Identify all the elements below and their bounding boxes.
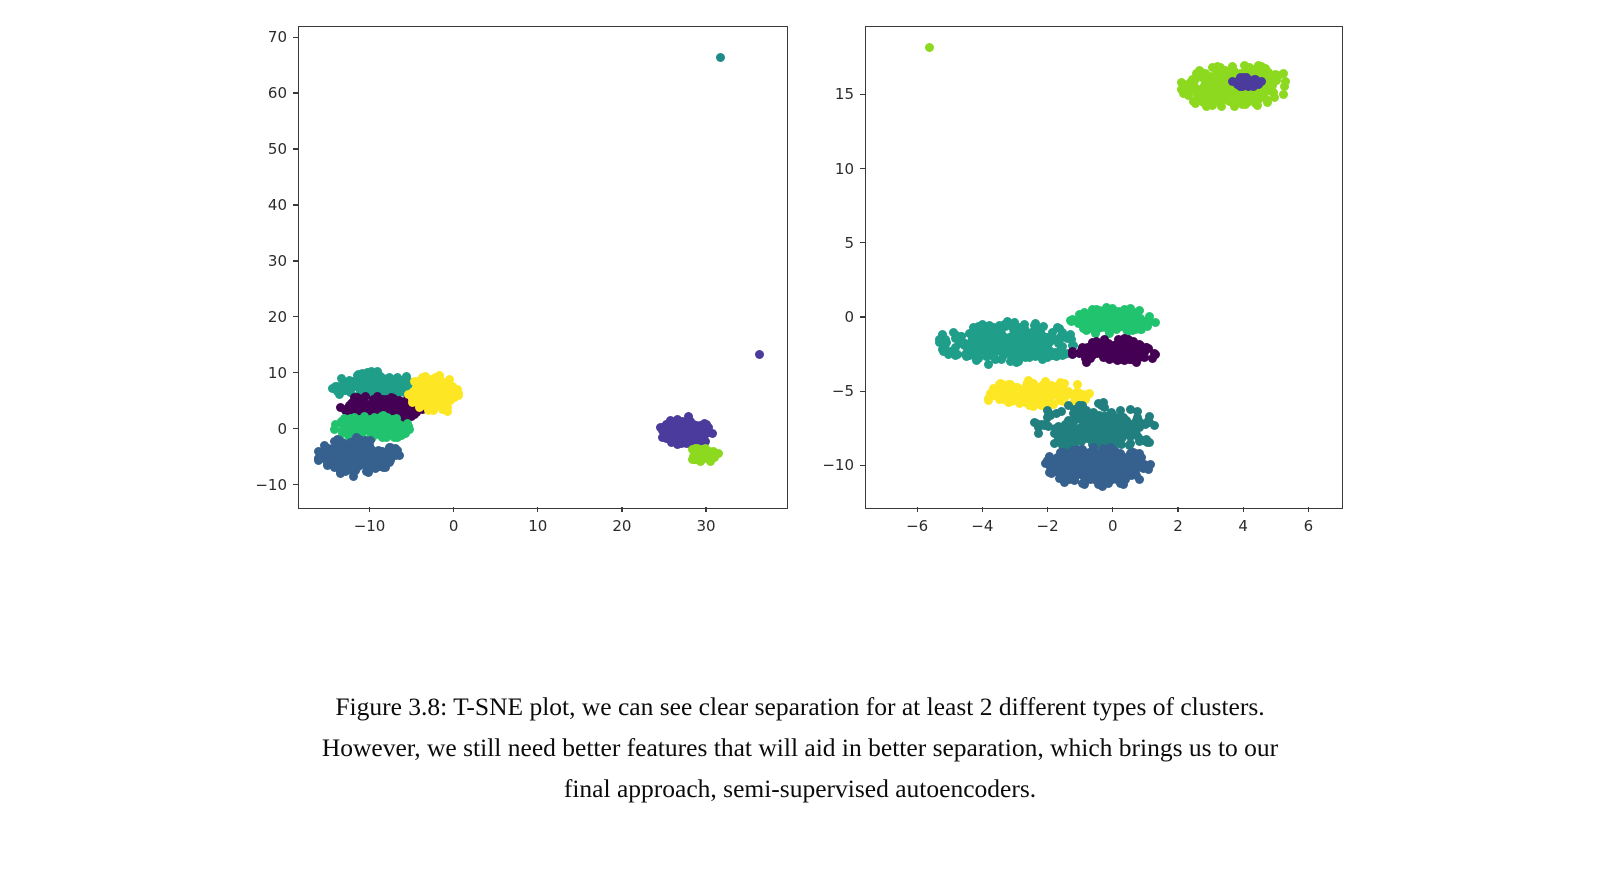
scatter-point-dark-purple [406, 396, 415, 405]
scatter-point-green [1100, 317, 1109, 326]
y-tick-label: 60 [242, 84, 287, 102]
scatter-point-dark-teal [1117, 414, 1126, 423]
scatter-point-green [1127, 315, 1136, 324]
scatter-point-teal [991, 355, 1000, 364]
scatter-point-yellow [1014, 392, 1023, 401]
scatter-point-lime-top [1219, 81, 1228, 90]
scatter-point-purple [676, 423, 685, 432]
scatter-point-yellow [432, 397, 441, 406]
scatter-point-teal [974, 354, 983, 363]
scatter-point-dark-teal [1081, 428, 1090, 437]
scatter-point-dark-purple [368, 400, 377, 409]
y-tick-mark [293, 372, 298, 373]
scatter-point-lime-top [1235, 78, 1244, 87]
scatter-point-purple [674, 423, 683, 432]
scatter-point-yellow [1014, 385, 1023, 394]
scatter-point-green [366, 419, 375, 428]
scatter-point-lime-top [1267, 72, 1276, 81]
scatter-point-lime-top [1234, 89, 1243, 98]
scatter-point-steel-blue [1108, 472, 1117, 481]
scatter-point-yellow [1037, 401, 1046, 410]
scatter-point-dark-purple [1109, 350, 1118, 359]
scatter-point-dark-purple [336, 403, 345, 412]
scatter-point-purple-top [1249, 82, 1258, 91]
scatter-point-steel-blue [342, 444, 351, 453]
scatter-point-steel-blue [1127, 470, 1136, 479]
scatter-point-purple [680, 429, 689, 438]
scatter-point-steel-blue [353, 441, 362, 450]
scatter-point-teal [996, 334, 1005, 343]
scatter-point-steel-blue [337, 456, 346, 465]
scatter-point-teal [374, 383, 383, 392]
scatter-point-teal [975, 333, 984, 342]
scatter-point-green [1124, 326, 1133, 335]
scatter-point-steel-blue [360, 452, 369, 461]
scatter-point-lime [703, 448, 712, 457]
scatter-point-yellow [426, 387, 435, 396]
scatter-point-purple [695, 427, 704, 436]
scatter-point-steel-blue [316, 452, 325, 461]
scatter-point-teal [984, 333, 993, 342]
scatter-point-yellow [454, 391, 463, 400]
scatter-point-lime-top [1211, 91, 1220, 100]
scatter-point-lime-top [1195, 66, 1204, 75]
scatter-point-yellow [1034, 392, 1043, 401]
scatter-point-lime-top [1238, 87, 1247, 96]
scatter-point-dark-purple [1102, 347, 1111, 356]
scatter-point-steel-blue [1129, 456, 1138, 465]
scatter-point-teal [999, 341, 1008, 350]
scatter-point-green [1108, 310, 1117, 319]
scatter-point-teal [1026, 341, 1035, 350]
scatter-point-steel-blue [1075, 452, 1084, 461]
scatter-point-dark-purple [1125, 340, 1134, 349]
scatter-point-dark-purple [398, 403, 407, 412]
scatter-point-teal [1002, 338, 1011, 347]
scatter-point-yellow [1040, 393, 1049, 402]
scatter-point-yellow [448, 382, 457, 391]
scatter-point-purple [680, 428, 689, 437]
scatter-point-purple-top [1239, 76, 1248, 85]
scatter-point-yellow [1030, 390, 1039, 399]
scatter-point-lime-top [1218, 78, 1227, 87]
scatter-point-green [345, 433, 354, 442]
scatter-point-steel-blue [1099, 450, 1108, 459]
scatter-point-purple [693, 428, 702, 437]
scatter-point-dark-purple [1122, 354, 1131, 363]
scatter-point-yellow [434, 391, 443, 400]
scatter-point-teal [379, 376, 388, 385]
scatter-point-dark-purple [371, 401, 380, 410]
scatter-point-yellow [1029, 379, 1038, 388]
scatter-point-lime-top [1241, 93, 1250, 102]
scatter-point-teal [1009, 325, 1018, 334]
scatter-point-steel-blue [336, 469, 345, 478]
scatter-point-teal [1043, 341, 1052, 350]
scatter-point-dark-teal [1043, 413, 1052, 422]
scatter-point-dark-teal [1061, 420, 1070, 429]
scatter-point-green [1101, 307, 1110, 316]
scatter-point-dark-purple [1114, 345, 1123, 354]
scatter-point-dark-teal [1120, 430, 1129, 439]
scatter-point-dark-purple [381, 406, 390, 415]
scatter-point-dark-purple [1099, 344, 1108, 353]
scatter-point-steel-blue [1072, 461, 1081, 470]
scatter-point-yellow [1016, 392, 1025, 401]
scatter-point-dark-teal [1068, 430, 1077, 439]
scatter-point-lime-top [1258, 88, 1267, 97]
scatter-point-lime-top [1236, 96, 1245, 105]
scatter-point-teal [354, 370, 363, 379]
scatter-point-dark-teal [1102, 412, 1111, 421]
scatter-point-steel-blue [347, 451, 356, 460]
scatter-point-yellow [426, 391, 435, 400]
scatter-point-dark-teal [1087, 426, 1096, 435]
scatter-point-teal [979, 330, 988, 339]
scatter-point-teal [1005, 333, 1014, 342]
scatter-point-steel-blue [1077, 452, 1086, 461]
scatter-point-purple [678, 424, 687, 433]
scatter-point-purple [686, 425, 695, 434]
scatter-point-steel-blue [1098, 468, 1107, 477]
scatter-point-lime-top [1223, 93, 1232, 102]
scatter-point-dark-purple [1116, 339, 1125, 348]
scatter-point-teal [359, 392, 368, 401]
scatter-point-lime-top [1251, 82, 1260, 91]
scatter-point-teal [1031, 342, 1040, 351]
scatter-point-steel-blue [1122, 453, 1131, 462]
scatter-point-steel-blue [1087, 463, 1096, 472]
scatter-point-steel-blue [1111, 447, 1120, 456]
scatter-point-steel-blue [1080, 473, 1089, 482]
scatter-point-green [378, 433, 387, 442]
scatter-point-teal [980, 344, 989, 353]
scatter-point-purple [685, 439, 694, 448]
scatter-point-dark-purple [1135, 347, 1144, 356]
scatter-point-dark-teal [1034, 429, 1043, 438]
scatter-point-green [357, 417, 366, 426]
scatter-point-teal [985, 321, 994, 330]
scatter-point-lime-top [1240, 90, 1249, 99]
scatter-point-yellow [415, 387, 424, 396]
scatter-point-purple [670, 424, 679, 433]
scatter-point-green [349, 417, 358, 426]
scatter-point-teal [386, 379, 395, 388]
scatter-point-teal [1039, 343, 1048, 352]
scatter-point-steel-blue [343, 450, 352, 459]
scatter-point-steel-blue [391, 449, 400, 458]
scatter-point-teal [362, 373, 371, 382]
scatter-point-dark-purple [357, 409, 366, 418]
scatter-point-purple [694, 425, 703, 434]
scatter-point-steel-blue [1108, 457, 1117, 466]
scatter-point-lime-top [1247, 80, 1256, 89]
scatter-point-steel-blue [1095, 459, 1104, 468]
scatter-point-green [388, 417, 397, 426]
scatter-point-yellow [450, 393, 459, 402]
scatter-point-steel-blue [1053, 457, 1062, 466]
scatter-point-lime-top [1238, 80, 1247, 89]
scatter-point-steel-blue [1052, 455, 1061, 464]
scatter-point-lime-top [1245, 73, 1254, 82]
scatter-point-teal [344, 383, 353, 392]
scatter-point-yellow [448, 386, 457, 395]
scatter-point-green [1101, 323, 1110, 332]
scatter-point-yellow [1041, 389, 1050, 398]
scatter-point-dark-purple [1127, 346, 1136, 355]
scatter-point-steel-blue [386, 443, 395, 452]
scatter-point-dark-teal [1095, 411, 1104, 420]
scatter-point-dark-teal [1095, 445, 1104, 454]
scatter-point-green [370, 421, 379, 430]
scatter-point-lime-top [1261, 81, 1270, 90]
scatter-point-yellow [1037, 394, 1046, 403]
scatter-point-steel-blue [1082, 471, 1091, 480]
scatter-point-dark-teal [1144, 416, 1153, 425]
scatter-point-lime-top [1243, 98, 1252, 107]
scatter-point-steel-blue [1105, 460, 1114, 469]
scatter-point-dark-purple [1106, 348, 1115, 357]
scatter-point-dark-purple [1068, 349, 1077, 358]
scatter-point-teal [357, 386, 366, 395]
scatter-point-steel-blue [336, 452, 345, 461]
scatter-point-dark-teal [1079, 417, 1088, 426]
scatter-point-green [1067, 317, 1076, 326]
scatter-point-purple [700, 436, 709, 445]
x-tick-mark [1112, 507, 1113, 512]
scatter-point-teal [365, 389, 374, 398]
scatter-point-teal [391, 384, 400, 393]
scatter-point-yellow [1038, 381, 1047, 390]
scatter-point-green [1092, 326, 1101, 335]
scatter-point-purple [702, 420, 711, 429]
scatter-point-dark-teal [1097, 401, 1106, 410]
scatter-point-yellow [1031, 387, 1040, 396]
scatter-point-lime-top [1206, 91, 1215, 100]
scatter-point-dark-purple [382, 406, 391, 415]
scatter-point-teal [951, 351, 960, 360]
scatter-point-lime-top [1264, 71, 1273, 80]
scatter-point-yellow [446, 390, 455, 399]
scatter-point-steel-blue [1110, 468, 1119, 477]
scatter-point-green [388, 415, 397, 424]
scatter-point-teal [1011, 326, 1020, 335]
scatter-point-dark-purple [412, 408, 421, 417]
scatter-point-steel-blue [1124, 465, 1133, 474]
scatter-point-steel-blue [1116, 475, 1125, 484]
scatter-point-purple [685, 431, 694, 440]
scatter-point-green [405, 425, 414, 434]
scatter-point-dark-teal [1116, 412, 1125, 421]
scatter-point-teal [328, 384, 337, 393]
scatter-point-yellow [421, 386, 430, 395]
scatter-point-green [1103, 314, 1112, 323]
scatter-point-dark-purple [356, 400, 365, 409]
scatter-point-steel-blue [362, 440, 371, 449]
y-tick-mark [293, 428, 298, 429]
scatter-point-teal [991, 346, 1000, 355]
scatter-point-lime-top [1211, 88, 1220, 97]
scatter-point-dark-teal [1115, 425, 1124, 434]
scatter-point-green [1131, 319, 1140, 328]
scatter-point-steel-blue [1063, 474, 1072, 483]
scatter-point-steel-blue [1085, 456, 1094, 465]
scatter-point-steel-blue [1107, 464, 1116, 473]
scatter-point-purple-top [1239, 73, 1248, 82]
scatter-point-steel-blue [375, 447, 384, 456]
scatter-point-dark-purple [1123, 345, 1132, 354]
scatter-point-steel-blue [1115, 466, 1124, 475]
scatter-point-teal [986, 330, 995, 339]
scatter-point-green [401, 422, 410, 431]
scatter-point-teal [996, 327, 1005, 336]
scatter-point-purple [673, 419, 682, 428]
scatter-point-teal [960, 341, 969, 350]
scatter-point-green [393, 433, 402, 442]
scatter-point-purple [662, 420, 671, 429]
scatter-point-steel-blue [1076, 458, 1085, 467]
scatter-point-purple [656, 423, 665, 432]
scatter-point-dark-teal [1117, 440, 1126, 449]
scatter-point-lime-top [1228, 62, 1237, 71]
scatter-point-teal [386, 377, 395, 386]
scatter-point-teal-outlier [716, 53, 725, 62]
scatter-point-steel-blue [1098, 459, 1107, 468]
scatter-point-green [379, 426, 388, 435]
scatter-point-dark-purple [365, 400, 374, 409]
scatter-point-steel-blue [1134, 460, 1143, 469]
scatter-point-green [1082, 325, 1091, 334]
scatter-point-green [377, 417, 386, 426]
scatter-point-teal [1034, 334, 1043, 343]
scatter-point-dark-purple [381, 407, 390, 416]
scatter-point-dark-teal [1081, 421, 1090, 430]
scatter-point-teal [1000, 320, 1009, 329]
scatter-point-teal [972, 345, 981, 354]
scatter-point-lime-top [1208, 91, 1217, 100]
scatter-point-green [1120, 321, 1129, 330]
scatter-point-dark-teal [1076, 423, 1085, 432]
scatter-point-purple [680, 422, 689, 431]
scatter-point-teal [975, 328, 984, 337]
scatter-point-dark-teal [1099, 412, 1108, 421]
scatter-point-teal [961, 350, 970, 359]
scatter-point-yellow [1014, 386, 1023, 395]
scatter-point-lime-top [1246, 89, 1255, 98]
scatter-point-green [1085, 312, 1094, 321]
x-tick-label: −10 [354, 517, 386, 535]
scatter-point-teal [1035, 348, 1044, 357]
scatter-point-yellow [1024, 376, 1033, 385]
scatter-point-lime-top [1249, 79, 1258, 88]
scatter-point-teal [1026, 340, 1035, 349]
scatter-point-yellow [1041, 377, 1050, 386]
scatter-point-steel-blue [369, 449, 378, 458]
scatter-point-steel-blue [1051, 467, 1060, 476]
scatter-point-lime-top [1226, 69, 1235, 78]
scatter-point-teal [995, 335, 1004, 344]
scatter-point-steel-blue [1129, 462, 1138, 471]
scatter-point-dark-teal [1095, 437, 1104, 446]
scatter-point-green [1084, 324, 1093, 333]
scatter-point-dark-teal [1089, 414, 1098, 423]
scatter-point-yellow [1015, 387, 1024, 396]
scatter-point-green [1125, 308, 1134, 317]
scatter-point-lime-top [1262, 83, 1271, 92]
scatter-point-lime-top [1246, 91, 1255, 100]
scatter-point-dark-teal [1110, 419, 1119, 428]
scatter-point-lime-top [1177, 85, 1186, 94]
scatter-point-green [1080, 308, 1089, 317]
scatter-point-green [1123, 318, 1132, 327]
scatter-point-yellow [437, 387, 446, 396]
scatter-point-lime [692, 448, 701, 457]
scatter-point-steel-blue [314, 454, 323, 463]
scatter-point-steel-blue [1095, 461, 1104, 470]
scatter-point-purple [684, 422, 693, 431]
scatter-point-teal [981, 335, 990, 344]
scatter-point-teal [390, 387, 399, 396]
scatter-point-teal [988, 340, 997, 349]
caption-line-2: However, we still need better features t… [0, 727, 1600, 768]
scatter-point-yellow [1010, 383, 1019, 392]
scatter-point-teal [1005, 341, 1014, 350]
scatter-point-dark-purple [1132, 358, 1141, 367]
scatter-point-steel-blue [1099, 444, 1108, 453]
scatter-point-green [1119, 322, 1128, 331]
scatter-point-teal [1002, 321, 1011, 330]
scatter-point-teal [377, 379, 386, 388]
scatter-point-steel-blue [343, 441, 352, 450]
scatter-point-teal [1028, 342, 1037, 351]
scatter-point-purple [694, 429, 703, 438]
scatter-point-green [1140, 319, 1149, 328]
scatter-point-dark-purple [352, 399, 361, 408]
scatter-point-yellow [1023, 383, 1032, 392]
scatter-point-purple-top [1241, 77, 1250, 86]
scatter-point-yellow [1006, 393, 1015, 402]
scatter-point-lime [705, 447, 714, 456]
scatter-point-purple [667, 438, 676, 447]
scatter-point-dark-purple [362, 405, 371, 414]
scatter-point-teal [999, 333, 1008, 342]
scatter-point-steel-blue [1110, 456, 1119, 465]
scatter-point-dark-teal [1086, 435, 1095, 444]
scatter-point-steel-blue [1060, 462, 1069, 471]
scatter-point-teal [1026, 340, 1035, 349]
scatter-point-purple-top [1248, 76, 1257, 85]
scatter-point-dark-purple [351, 411, 360, 420]
scatter-point-teal [367, 378, 376, 387]
scatter-point-teal [972, 356, 981, 365]
scatter-point-lime-top [1281, 77, 1290, 86]
scatter-point-purple [678, 435, 687, 444]
scatter-point-steel-blue [1087, 459, 1096, 468]
scatter-point-yellow [1005, 389, 1014, 398]
scatter-point-steel-blue [1049, 460, 1058, 469]
scatter-point-steel-blue [364, 468, 373, 477]
scatter-point-steel-blue [1082, 464, 1091, 473]
scatter-point-steel-blue [335, 452, 344, 461]
scatter-point-teal [349, 382, 358, 391]
scatter-point-yellow [1010, 389, 1019, 398]
scatter-point-teal [1036, 340, 1045, 349]
scatter-point-lime-top [1251, 98, 1260, 107]
scatter-point-lime-top [1215, 87, 1224, 96]
scatter-point-teal [1066, 330, 1075, 339]
scatter-point-purple-top [1244, 76, 1253, 85]
scatter-point-lime-top [1242, 87, 1251, 96]
